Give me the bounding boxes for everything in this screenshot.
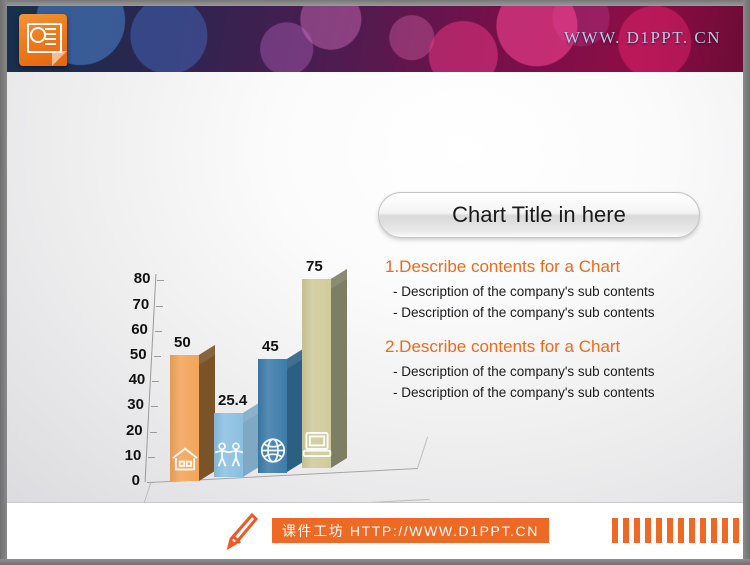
slide: WWW. D1PPT. CN 010203040506070805025.445… bbox=[0, 0, 750, 565]
frame-left-border bbox=[0, 0, 7, 565]
footer-url-text: 课件工坊 HTTP://WWW.D1PPT.CN bbox=[282, 521, 539, 541]
section-1-heading: 1.Describe contents for a Chart bbox=[385, 257, 654, 277]
y-axis-tick-mark bbox=[150, 432, 157, 433]
content-section-1: 1.Describe contents for a Chart - Descri… bbox=[385, 257, 654, 324]
section-1-bullet-2: - Description of the company's sub conte… bbox=[393, 303, 654, 324]
footer-stripe bbox=[733, 518, 739, 543]
computer-icon bbox=[301, 430, 333, 464]
logo-pie-icon bbox=[30, 27, 46, 43]
globe-icon bbox=[259, 437, 286, 469]
chart-bar bbox=[302, 279, 331, 468]
header-banner: WWW. D1PPT. CN bbox=[7, 6, 743, 72]
footer-stripe bbox=[612, 518, 618, 543]
powerpoint-document-icon bbox=[19, 14, 71, 70]
footer-stripe bbox=[623, 518, 629, 543]
content-section-2: 2.Describe contents for a Chart - Descri… bbox=[385, 337, 654, 404]
footer-stripe bbox=[667, 518, 673, 543]
y-axis-tick-label: 30 bbox=[110, 396, 144, 413]
frame-bottom-border bbox=[0, 559, 750, 565]
header-website-url: WWW. D1PPT. CN bbox=[564, 28, 721, 48]
footer-stripe bbox=[645, 518, 651, 543]
y-axis-tick-label: 70 bbox=[115, 296, 149, 313]
y-axis-tick-mark bbox=[156, 306, 163, 307]
frame-right-border bbox=[743, 0, 750, 565]
house-icon bbox=[170, 446, 200, 477]
chart-floor-right-edge bbox=[417, 437, 428, 469]
logo-text-line bbox=[45, 43, 56, 45]
footer-stripe bbox=[711, 518, 717, 543]
logo-text-line bbox=[45, 28, 56, 30]
logo-text-line bbox=[45, 38, 56, 40]
section-2-bullet-2: - Description of the company's sub conte… bbox=[393, 383, 654, 404]
chart-bar-data-label: 25.4 bbox=[218, 392, 247, 409]
y-axis-tick-mark bbox=[152, 381, 159, 382]
slide-body: 010203040506070805025.445751st Qtr Chart… bbox=[7, 72, 743, 502]
people-icon bbox=[211, 442, 247, 473]
chart-title-button[interactable]: Chart Title in here bbox=[378, 192, 700, 238]
logo-page-fold bbox=[52, 51, 67, 66]
footer-url-band: 课件工坊 HTTP://WWW.D1PPT.CN bbox=[272, 518, 549, 543]
y-axis-tick-mark bbox=[148, 457, 155, 458]
pen-icon bbox=[222, 509, 262, 553]
y-axis-tick-label: 20 bbox=[109, 422, 143, 439]
chart-bar-data-label: 75 bbox=[306, 258, 323, 275]
y-axis-tick-mark bbox=[155, 331, 162, 332]
y-axis-tick-label: 0 bbox=[106, 472, 140, 489]
footer-stripe bbox=[722, 518, 728, 543]
footer-stripe bbox=[634, 518, 640, 543]
chart-bar bbox=[214, 413, 243, 477]
chart-bar-data-label: 50 bbox=[174, 334, 191, 351]
chart-bar bbox=[258, 359, 287, 472]
section-2-heading: 2.Describe contents for a Chart bbox=[385, 337, 654, 357]
section-1-bullet-1: - Description of the company's sub conte… bbox=[393, 282, 654, 303]
logo-text-line bbox=[45, 33, 56, 35]
y-axis-tick-label: 50 bbox=[113, 346, 147, 363]
section-2-bullet-1: - Description of the company's sub conte… bbox=[393, 362, 654, 383]
chart-bar-data-label: 45 bbox=[262, 338, 279, 355]
footer-stripe bbox=[689, 518, 695, 543]
y-axis-tick-label: 40 bbox=[111, 371, 145, 388]
footer-stripe bbox=[656, 518, 662, 543]
footer-stripe bbox=[678, 518, 684, 543]
y-axis-tick-label: 60 bbox=[114, 321, 148, 338]
footer-stripe-group bbox=[612, 518, 743, 543]
y-axis-tick-label: 80 bbox=[116, 270, 150, 287]
y-axis-tick-mark bbox=[154, 356, 161, 357]
y-axis-tick-label: 10 bbox=[107, 447, 141, 464]
y-axis-tick-mark bbox=[157, 280, 164, 281]
chart-title-label: Chart Title in here bbox=[452, 202, 626, 228]
chart-bar bbox=[170, 355, 199, 481]
footer-stripe bbox=[700, 518, 706, 543]
y-axis-tick-mark bbox=[151, 406, 158, 407]
footer-divider bbox=[7, 502, 743, 503]
chart-bar-side-face bbox=[331, 269, 347, 468]
